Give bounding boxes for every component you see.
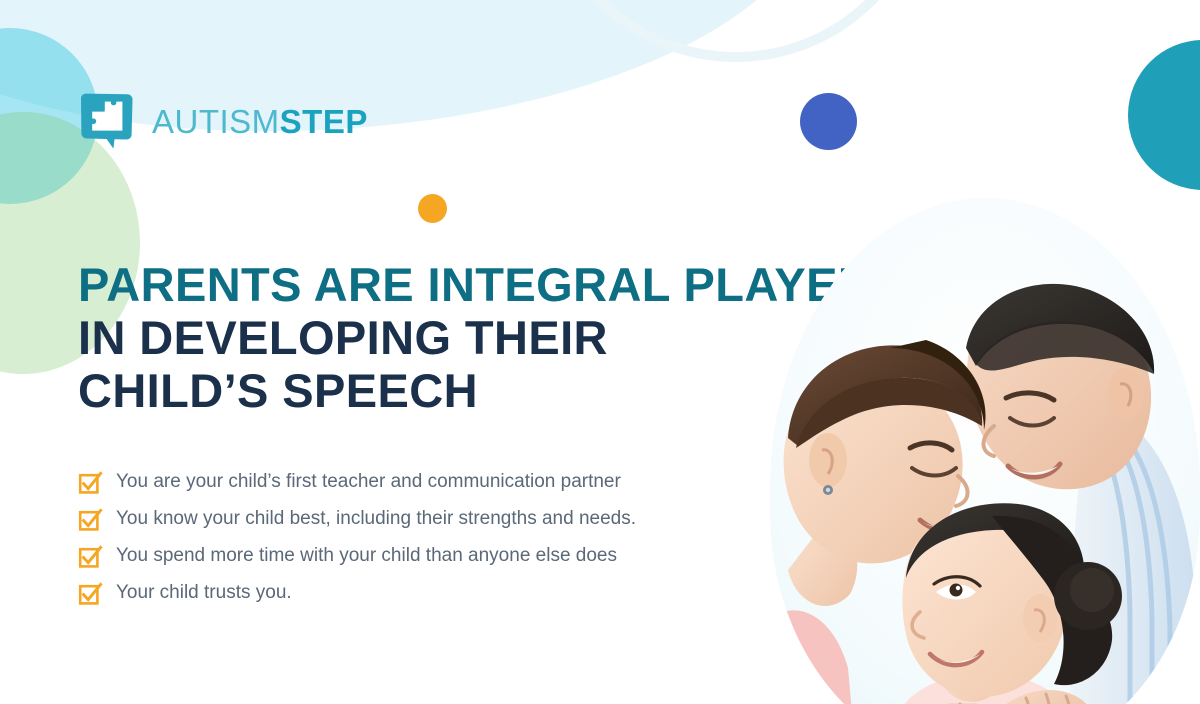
checked-checkbox-icon <box>78 508 102 532</box>
checked-checkbox-icon <box>78 471 102 495</box>
headline-line-2: IN DEVELOPING THEIR <box>78 311 818 364</box>
background-blue-dot <box>800 93 857 150</box>
promo-banner: AUTISMSTEP PARENTS ARE INTEGRAL PLAYERS … <box>0 0 1200 704</box>
family-photo <box>770 198 1200 704</box>
list-item: You spend more time with your child than… <box>78 538 738 575</box>
wordmark-light-part: AUTISM <box>152 105 280 138</box>
brand-logo[interactable]: AUTISMSTEP <box>78 92 368 150</box>
checked-checkbox-icon <box>78 582 102 606</box>
background-teal-circle <box>1128 40 1200 190</box>
headline-line-3: CHILD’S SPEECH <box>78 364 818 417</box>
list-item-label: You are your child’s first teacher and c… <box>116 471 621 494</box>
benefits-list: You are your child’s first teacher and c… <box>78 464 738 612</box>
puzzle-speech-bubble-icon <box>78 92 136 150</box>
list-item-label: Your child trusts you. <box>116 582 292 605</box>
list-item: You are your child’s first teacher and c… <box>78 464 738 501</box>
headline-block: PARENTS ARE INTEGRAL PLAYERS IN DEVELOPI… <box>78 258 818 417</box>
brand-wordmark: AUTISMSTEP <box>152 105 368 138</box>
list-item-label: You spend more time with your child than… <box>116 545 617 568</box>
background-ring-outline <box>540 0 932 62</box>
checked-checkbox-icon <box>78 545 102 569</box>
family-photo-mask <box>770 198 1200 704</box>
list-item: You know your child best, including thei… <box>78 501 738 538</box>
wordmark-bold-part: STEP <box>280 105 368 138</box>
list-item: Your child trusts you. <box>78 575 738 612</box>
list-item-label: You know your child best, including thei… <box>116 508 636 531</box>
headline-line-1: PARENTS ARE INTEGRAL PLAYERS <box>78 258 818 311</box>
background-orange-dot <box>418 194 447 223</box>
